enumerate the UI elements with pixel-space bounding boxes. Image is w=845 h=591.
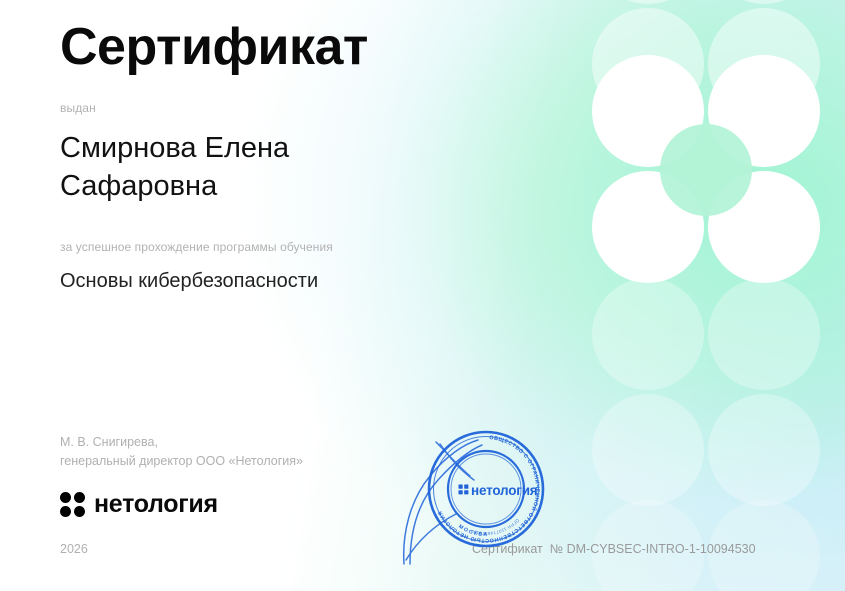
issue-year: 2026 (60, 542, 88, 556)
issued-label: выдан (60, 101, 96, 115)
certificate-page: Сертификат выдан Смирнова Елена Сафаровн… (0, 0, 845, 591)
page-title: Сертификат (60, 18, 368, 78)
signatory-name: М. В. Снигирева, (60, 433, 303, 452)
stamp-center-logo: нетология (459, 483, 538, 498)
logo-wordmark: нетология (94, 492, 218, 517)
certificate-content: Сертификат выдан Смирнова Елена Сафаровн… (0, 0, 845, 591)
recipient-name: Смирнова Елена Сафаровна (60, 130, 400, 205)
clover-logo-icon (60, 492, 85, 517)
stamp-and-signature: ОБЩЕСТВО С ОГРАНИЧЕННОЙ ОТВЕТСТВЕННОСТЬЮ… (396, 414, 586, 569)
stamp-center-wordmark: нетология (471, 483, 537, 498)
program-name: Основы кибербезопасности (60, 268, 410, 294)
signatory-title: генеральный директор ООО «Нетология» (60, 452, 303, 471)
signatory-block: М. В. Снигирева, генеральный директор ОО… (60, 433, 303, 472)
official-stamp-svg: ОБЩЕСТВО С ОГРАНИЧЕННОЙ ОТВЕТСТВЕННОСТЬЮ… (396, 414, 586, 569)
netologia-logo: нетология (60, 492, 218, 517)
program-label: за успешное прохождение программы обучен… (60, 240, 333, 254)
